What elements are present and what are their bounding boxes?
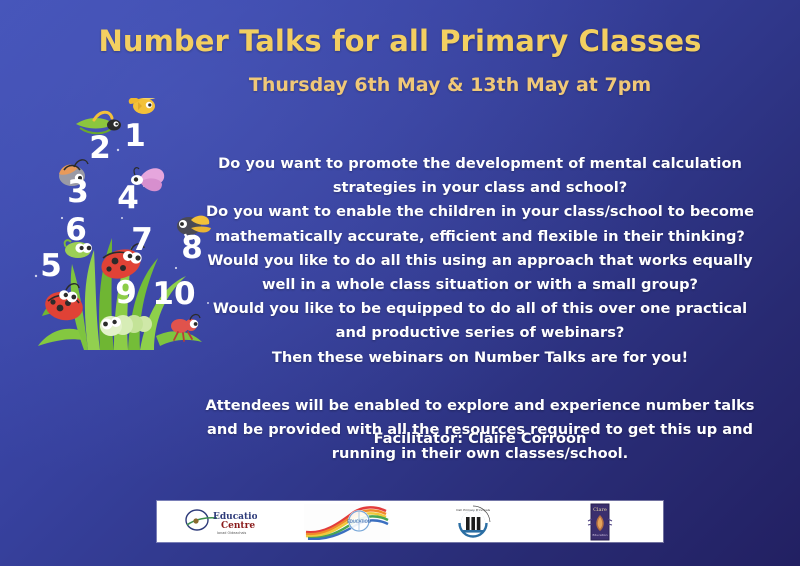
poster-canvas: Number Talks for all Primary Classes Thu… bbox=[0, 0, 800, 566]
illustration-number-4: 4 bbox=[117, 180, 139, 216]
svg-text:Education: Education bbox=[592, 533, 607, 537]
body-line: Would you like to be equipped to do all … bbox=[196, 297, 764, 321]
illustration-number-7: 7 bbox=[131, 222, 153, 258]
illustration-number-6: 6 bbox=[65, 212, 87, 248]
body-line: and productive series of webinars? bbox=[196, 321, 764, 345]
svg-text:Clare: Clare bbox=[593, 507, 607, 513]
logo-rainbow-swirl: EDUCATION bbox=[284, 501, 411, 542]
logo-education-centre: Education Centre Ionad Oideachais Educat… bbox=[157, 501, 284, 542]
logo-pillars-roundel: Irish Primary Principals bbox=[410, 501, 537, 542]
paragraph-spacer bbox=[196, 370, 764, 394]
bee-1-icon bbox=[129, 98, 157, 114]
svg-text:EDUCATION: EDUCATION bbox=[347, 519, 371, 524]
body-line: Attendees will be enabled to explore and… bbox=[196, 394, 764, 418]
illustration-number-10: 10 bbox=[152, 276, 195, 312]
illustration-number-9: 9 bbox=[115, 275, 137, 311]
page-title: Number Talks for all Primary Classes bbox=[0, 24, 800, 58]
body-copy: Do you want to promote the development o… bbox=[196, 152, 764, 466]
body-line: Then these webinars on Number Talks are … bbox=[196, 346, 764, 370]
body-line: Do you want to promote the development o… bbox=[196, 152, 764, 176]
facilitator-line: Facilitator: Claire Corroon bbox=[196, 430, 764, 447]
sponsor-logo-strip: Education Centre Ionad Oideachais Educat… bbox=[157, 501, 663, 542]
illustration-number-2: 2 bbox=[89, 130, 111, 166]
svg-text:Ionad Oideachais: Ionad Oideachais bbox=[217, 531, 246, 535]
body-line: strategies in your class and school? bbox=[196, 176, 764, 200]
illustration-number-5: 5 bbox=[40, 248, 62, 284]
event-date-subtitle: Thursday 6th May & 13th May at 7pm bbox=[185, 72, 715, 99]
body-line: Do you want to enable the children in yo… bbox=[196, 200, 764, 224]
body-line: well in a whole class situation or with … bbox=[196, 273, 764, 297]
body-line: mathematically accurate, efficient and f… bbox=[196, 225, 764, 249]
illustration-number-3: 3 bbox=[67, 174, 89, 210]
body-line: Would you like to do all this using an a… bbox=[196, 249, 764, 273]
svg-text:Irish Primary Principals: Irish Primary Principals bbox=[456, 508, 491, 512]
svg-text:Centre: Centre bbox=[221, 521, 255, 531]
illustration-number-1: 1 bbox=[124, 118, 146, 154]
logo-clare-banner: Clare Education Clare bbox=[537, 501, 664, 542]
